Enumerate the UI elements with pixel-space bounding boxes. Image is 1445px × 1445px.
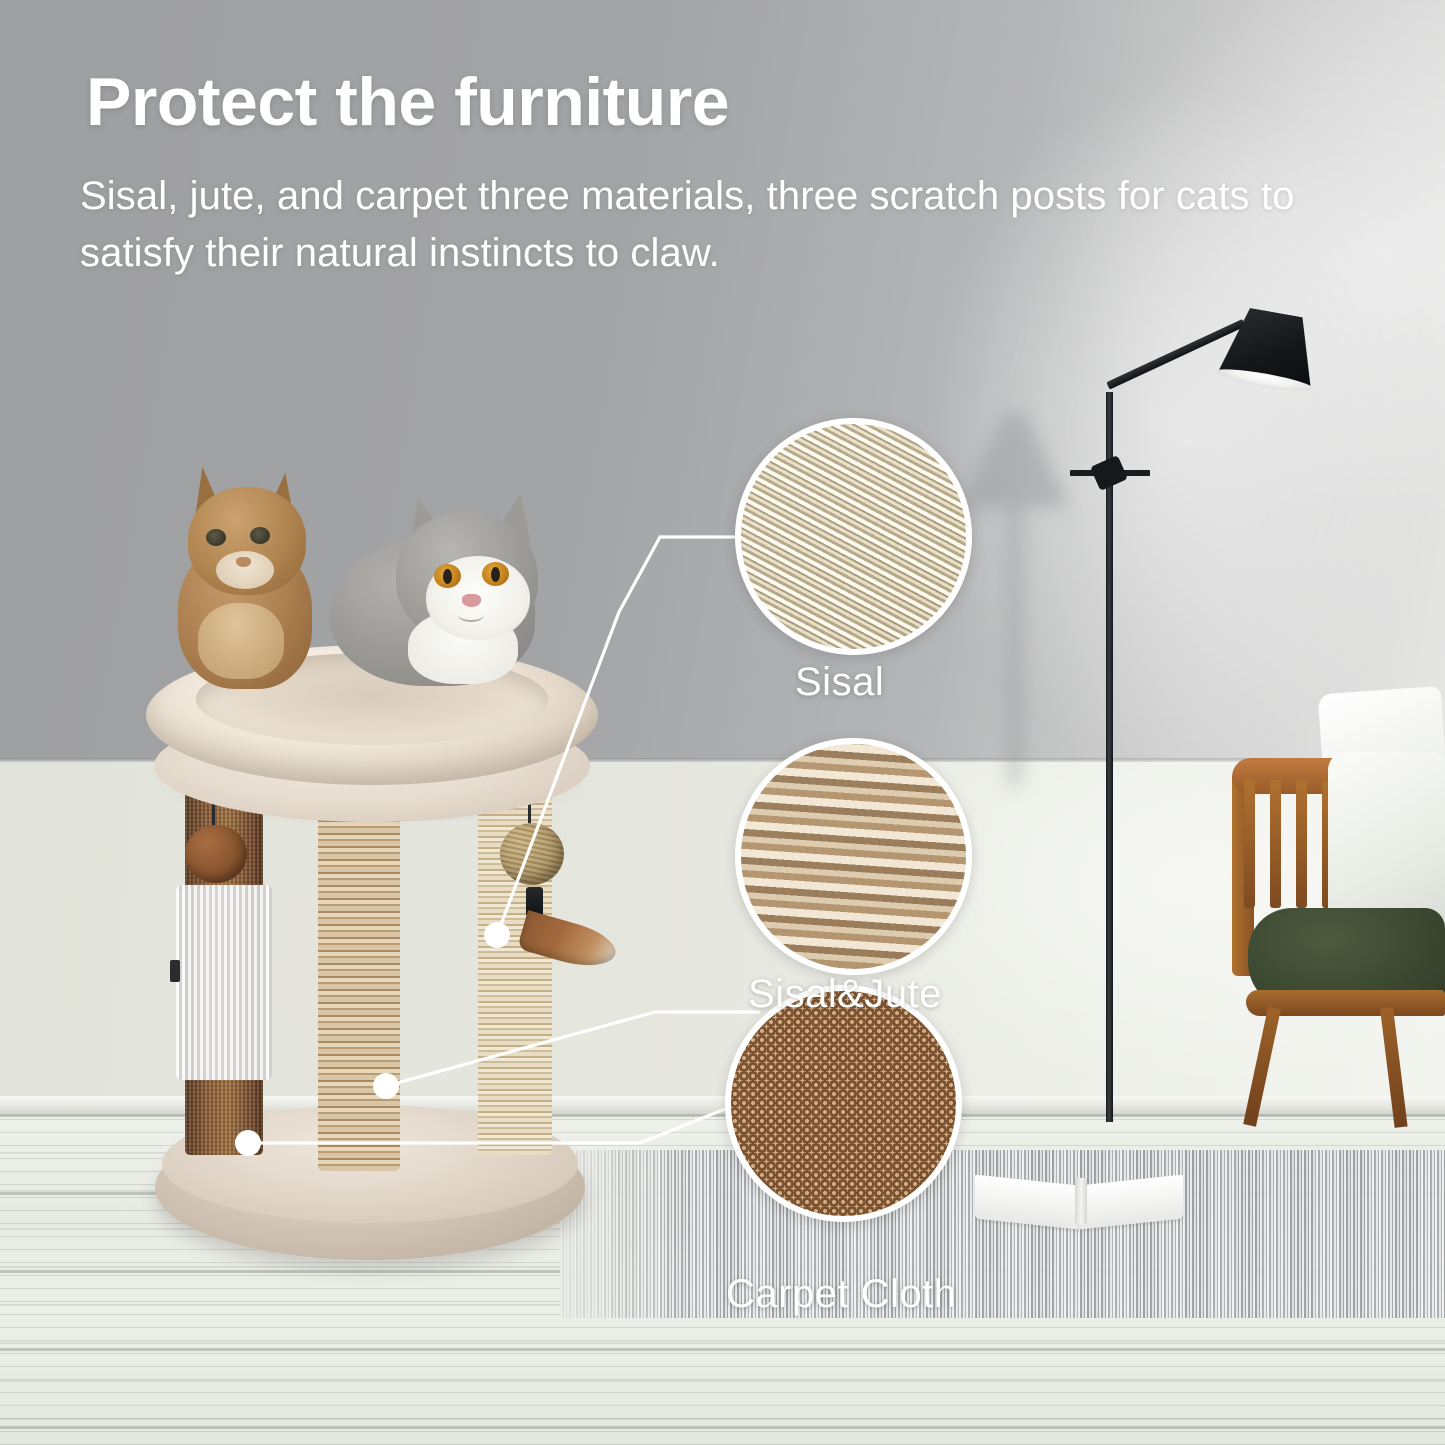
- material-label-sisal-jute: Sisal&Jute: [748, 972, 942, 1017]
- swatch-jute-rope-texture-icon: [735, 738, 972, 975]
- callout-dot-jute: [373, 1073, 399, 1099]
- callout-dot-carpet: [235, 1130, 261, 1156]
- callout-dot-sisal: [484, 922, 510, 948]
- swatch-sisal-rope-texture-icon: [735, 418, 972, 655]
- swatch-carpet-loop-pile-texture-icon: [725, 985, 962, 1222]
- callout-line-jute: [386, 1012, 760, 1086]
- product-infographic: Sisal Sisal&Jute Carpet Cloth Protect th…: [0, 0, 1445, 1445]
- callout-line-carpet: [248, 1105, 735, 1143]
- subheadline: Sisal, jute, and carpet three materials,…: [80, 168, 1390, 282]
- material-label-sisal: Sisal: [795, 660, 884, 705]
- headline: Protect the furniture: [86, 66, 729, 138]
- material-label-carpet-cloth: Carpet Cloth: [726, 1272, 957, 1317]
